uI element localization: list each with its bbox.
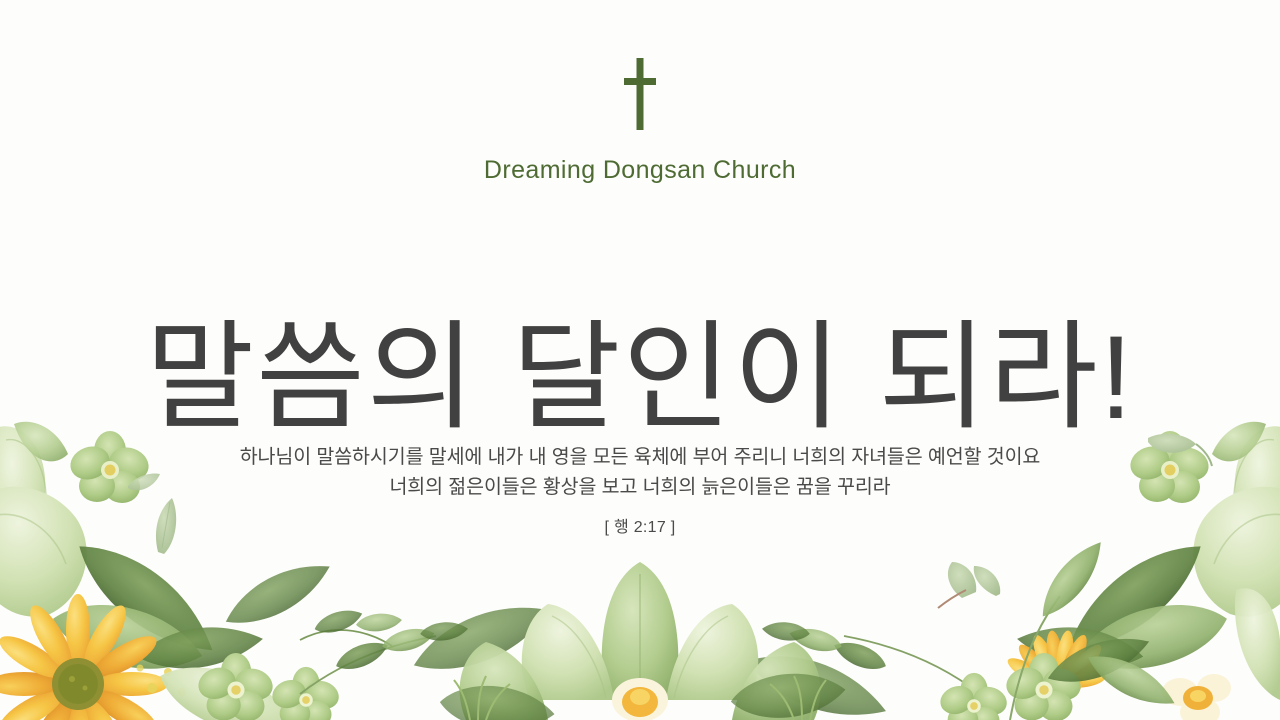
eucalyptus-sprig-center-left (300, 636, 436, 694)
chrysanthemum-right (1004, 629, 1116, 698)
grass-tuft-center-left (454, 676, 510, 720)
eucalyptus-sprig-center-right (844, 636, 980, 694)
green-orchid-center (602, 562, 679, 700)
grass-tuft-center-right (770, 676, 826, 720)
hellebore-flower (936, 673, 1010, 720)
hellebore-flower (194, 653, 277, 720)
cross-icon (624, 58, 656, 130)
scripture-block: 하나님이 말씀하시기를 말세에 내가 내 영을 모든 육체에 부어 주리니 너희… (0, 442, 1280, 537)
scripture-reference: [ 행 2:17 ] (0, 513, 1280, 537)
scripture-line-1: 하나님이 말씀하시기를 말세에 내가 내 영을 모든 육체에 부어 주리니 너희… (0, 442, 1280, 472)
church-branding: Dreaming Dongsan Church (0, 58, 1280, 185)
yellow-blossom-right (1162, 674, 1231, 720)
leaf-stem-right (1010, 596, 1060, 720)
worship-slide: Dreaming Dongsan Church 말씀의 달인이 되라! 하나님이… (0, 0, 1280, 720)
floral-cluster-center (300, 562, 980, 720)
hellebore-flower (268, 667, 342, 720)
eucalyptus-sprig-left (300, 630, 392, 646)
hellebore-flower (1002, 653, 1085, 720)
floating-leaf-center (938, 562, 1000, 608)
sermon-title: 말씀의 달인이 되라! (0, 315, 1280, 442)
church-name: Dreaming Dongsan Church (0, 156, 1280, 185)
bud-cluster-left (137, 665, 187, 697)
scripture-line-2: 너희의 젊은이들은 황상을 보고 너희의 늙은이들은 꿈을 꾸리라 (0, 472, 1280, 502)
sunflower-left (0, 594, 168, 720)
